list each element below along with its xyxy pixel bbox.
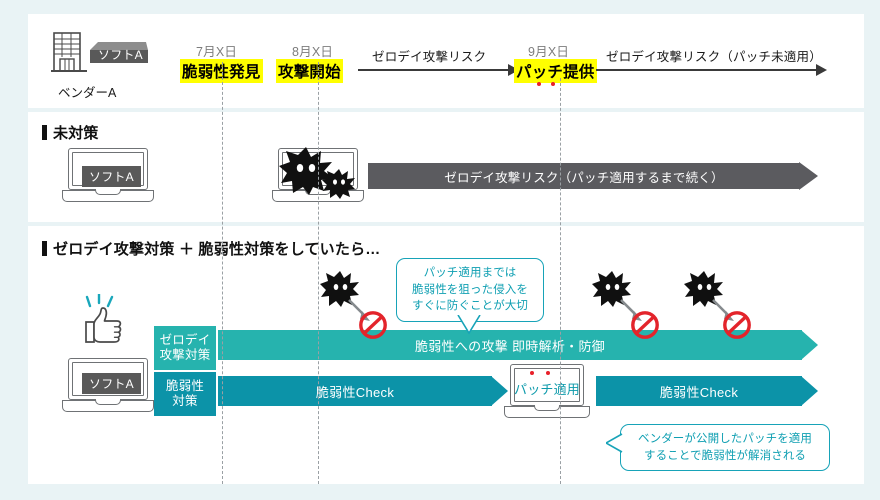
row-label-vuln-line1: 脆弱性 [166, 379, 204, 394]
blocked-sign-icon-2 [722, 310, 752, 340]
row-label-zeroday-line1: ゼロデイ [160, 333, 211, 348]
blocked-sign-icon-1 [630, 310, 660, 340]
laptop-patched-tag: パッチ適用 [514, 379, 580, 398]
blocked-sign-icon-0 [358, 310, 388, 340]
emphasis-dot-0 [537, 82, 541, 86]
emphasis-dot-1 [551, 82, 555, 86]
diagram-root: ソフトA ベンダーA 7月X日 脆弱性発見 8月X日 攻撃開始 ゼロデイ攻撃リス… [0, 0, 880, 500]
row-label-zeroday: ゼロデイ 攻撃対策 [154, 326, 216, 370]
laptop-protected-tag: ソフトA [82, 373, 141, 394]
vuln-check-bar-1: 脆弱性Check [218, 376, 508, 406]
malware-burst-small-icon [322, 168, 356, 200]
patch-emphasis-dot-0 [530, 371, 534, 375]
callout-bottom-connector [596, 406, 616, 436]
risk-arrow-none: ゼロデイ攻撃リスク（パッチ適用するまで続く） [368, 163, 818, 189]
event-label-2: パッチ提供 [514, 59, 597, 83]
vuln-check-bar-2: 脆弱性Check [596, 376, 818, 406]
laptop-clean-tag: ソフトA [82, 166, 141, 187]
zeroday-defense-bar-label: 脆弱性への攻撃 即時解析・防御 [218, 330, 802, 360]
callout-top: パッチ適用までは 脆弱性を狙った侵入を すぐに防ぐことが大切 [396, 258, 544, 322]
building-icon [50, 30, 88, 78]
callout-top-line-0: パッチ適用までは [406, 265, 534, 282]
row-label-vuln: 脆弱性 対策 [154, 372, 216, 416]
event-label-0: 脆弱性発見 [180, 59, 263, 83]
event-label-1: 攻撃開始 [276, 59, 343, 83]
callout-top-line-1: 脆弱性を狙った侵入を [406, 282, 534, 299]
risk-arrow-none-label: ゼロデイ攻撃リスク（パッチ適用するまで続く） [368, 163, 800, 189]
vendor-label: ベンダーA [58, 82, 116, 101]
timeline-arrowhead-1 [816, 64, 827, 76]
callout-top-tail [456, 315, 482, 335]
vuln-check-bar-1-label: 脆弱性Check [218, 376, 492, 406]
event-date-0: 7月X日 [196, 41, 237, 60]
vendor-software-tag: ソフトA [98, 46, 143, 63]
vuln-check-bar-2-label: 脆弱性Check [596, 376, 802, 406]
timeline-line-1 [596, 69, 818, 71]
row-label-vuln-line2: 対策 [172, 394, 197, 409]
thumbs-up-icon [80, 294, 128, 350]
risk-label-0: ゼロデイ攻撃リスク [372, 46, 486, 65]
event-date-1: 8月X日 [292, 41, 333, 60]
callout-bottom-line-0: ベンダーが公開したパッチを適用 [630, 431, 820, 448]
callout-top-line-2: すぐに防ぐことが大切 [406, 298, 534, 315]
section-heading-none: 未対策 [42, 122, 99, 143]
row-label-zeroday-line2: 攻撃対策 [160, 348, 211, 363]
risk-label-1: ゼロデイ攻撃リスク（パッチ未適用） [606, 46, 822, 65]
section-heading-measures: ゼロデイ攻撃対策 ＋ 脆弱性対策をしていたら… [42, 238, 381, 259]
patch-emphasis-dot-1 [546, 371, 550, 375]
callout-bottom: ベンダーが公開したパッチを適用 することで脆弱性が解消される [620, 424, 830, 471]
timeline-line-0 [358, 69, 510, 71]
callout-bottom-line-1: することで脆弱性が解消される [630, 448, 820, 465]
event-date-2: 9月X日 [528, 41, 569, 60]
